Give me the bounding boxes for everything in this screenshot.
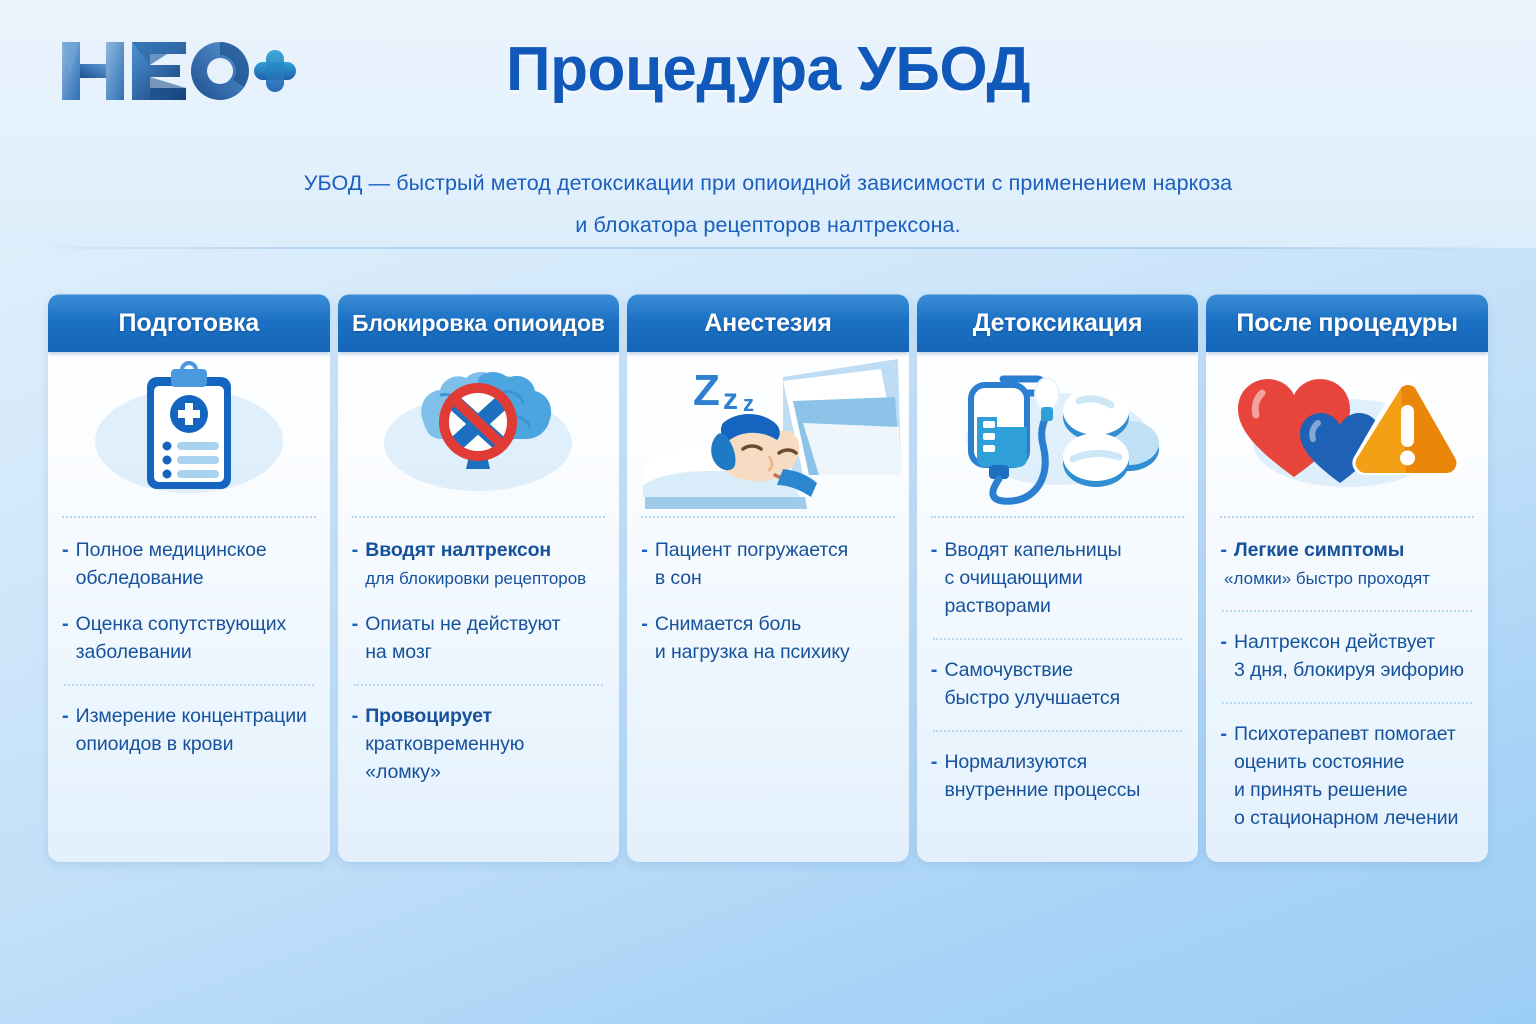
bullet-dash-icon: -: [931, 748, 938, 776]
bullet-line: заболевании: [76, 638, 286, 666]
stages-row: Подготовка -Полное медицинскоеобследован…: [48, 294, 1488, 862]
iv-drip-pills-icon: [917, 352, 1199, 516]
bullet-item: -Легкие симптомы«ломки» быстро проходят: [1220, 536, 1474, 592]
bullet-line: и нагрузка на психику: [655, 638, 850, 666]
bullet-item: -Провоцируеткратковременную«ломку»: [352, 702, 606, 786]
svg-text:z: z: [723, 383, 738, 416]
bullet-line: Оценка сопутствующих: [76, 610, 286, 638]
bullet-text: Измерение концентрацииопиоидов в крови: [76, 702, 307, 758]
stage-card-after-procedure: После процедуры -Легкие симптомы«ломки» …: [1206, 294, 1488, 862]
bullet-divider: [354, 684, 604, 686]
bullet-line: опиоидов в крови: [76, 730, 307, 758]
svg-text:Z: Z: [693, 366, 720, 415]
bullet-line: и принять решение: [1234, 776, 1458, 804]
subtitle-line-2: и блокатора рецепторов налтрексона.: [268, 204, 1268, 246]
bullet-item: -Оценка сопутствующихзаболевании: [62, 610, 316, 666]
clipboard-medical-icon: [48, 352, 330, 516]
bullet-text: Вводят налтрексондля блокировки рецептор…: [365, 536, 586, 592]
sleeping-patient-icon: Z z z: [627, 352, 909, 516]
stage-title-opioid-blocking: Блокировка опиоидов: [352, 310, 605, 337]
stage-bullets-opioid-blocking: -Вводят налтрексондля блокировки рецепто…: [338, 518, 620, 862]
bullet-line: Опиаты не действуют: [365, 610, 560, 638]
stage-header-preparation: Подготовка: [48, 294, 330, 352]
bullet-divider: [933, 730, 1183, 732]
bullet-dash-icon: -: [1220, 536, 1227, 564]
bullet-dash-icon: -: [931, 656, 938, 684]
bullet-line: Снимается боль: [655, 610, 850, 638]
bullet-dash-icon: -: [641, 536, 648, 564]
bullet-item: -Снимается больи нагрузка на психику: [641, 610, 895, 666]
bullet-dash-icon: -: [62, 702, 69, 730]
stage-title-anesthesia: Анестезия: [704, 309, 831, 338]
stage-bullets-anesthesia: -Пациент погружаетсяв сон-Снимается боль…: [627, 518, 909, 862]
bullet-line: Налтрексон действует: [1234, 628, 1464, 656]
bullet-line: Нормализуются: [944, 748, 1140, 776]
stage-header-after-procedure: После процедуры: [1206, 294, 1488, 352]
bullet-line: Провоцирует: [365, 702, 524, 730]
bullet-line: Вводят капельницы: [944, 536, 1121, 564]
stage-bullets-after-procedure: -Легкие симптомы«ломки» быстро проходят-…: [1206, 518, 1488, 862]
bullet-item: -Психотерапевт помогаетоценить состояние…: [1220, 720, 1474, 832]
stage-title-detoxification: Детоксикация: [973, 309, 1143, 338]
bullet-divider: [933, 638, 1183, 640]
bullet-divider: [64, 684, 314, 686]
bullet-text: Вводят капельницыс очищающимирастворами: [944, 536, 1121, 620]
stage-bullets-detoxification: -Вводят капельницыс очищающимирастворами…: [917, 518, 1199, 862]
bullet-line: Вводят налтрексон: [365, 536, 586, 564]
bullet-text: Самочувствиебыстро улучшается: [944, 656, 1120, 712]
bullet-line: Измерение концентрации: [76, 702, 307, 730]
stage-bullets-preparation: -Полное медицинскоеобследование-Оценка с…: [48, 518, 330, 862]
bullet-line: для блокировки рецепторов: [365, 566, 586, 592]
bullet-line: быстро улучшается: [944, 684, 1120, 712]
bullet-line: оценить состояние: [1234, 748, 1458, 776]
bullet-item: -Опиаты не действуютна мозг: [352, 610, 606, 666]
bullet-dash-icon: -: [62, 610, 69, 638]
bullet-line: с очищающими: [944, 564, 1121, 592]
bullet-text: Провоцируеткратковременную«ломку»: [365, 702, 524, 786]
bullet-item: -Вводят капельницыс очищающимирастворами: [931, 536, 1185, 620]
bullet-text: Налтрексон действует3 дня, блокируя эифо…: [1234, 628, 1464, 684]
bullet-text: Пациент погружаетсяв сон: [655, 536, 848, 592]
stage-title-preparation: Подготовка: [119, 309, 259, 338]
bullet-line: обследование: [76, 564, 267, 592]
bullet-item: -Нормализуютсявнутренние процессы: [931, 748, 1185, 804]
bullet-dash-icon: -: [641, 610, 648, 638]
bullet-divider: [1222, 610, 1472, 612]
stage-title-after-procedure: После процедуры: [1236, 309, 1458, 338]
bullet-line: кратковременную: [365, 730, 524, 758]
bullet-item: -Самочувствиебыстро улучшается: [931, 656, 1185, 712]
bullet-line: о стационарном лечении: [1234, 804, 1458, 832]
bullet-item: -Пациент погружаетсяв сон: [641, 536, 895, 592]
bullet-text: Психотерапевт помогаетоценить состояниеи…: [1234, 720, 1458, 832]
bullet-line: «ломку»: [365, 758, 524, 786]
page-subtitle: УБОД — быстрый метод детоксикации при оп…: [268, 162, 1268, 246]
stage-header-detoxification: Детоксикация: [917, 294, 1199, 352]
bullet-item: -Вводят налтрексондля блокировки рецепто…: [352, 536, 606, 592]
bullet-dash-icon: -: [1220, 628, 1227, 656]
stage-card-preparation: Подготовка -Полное медицинскоеобследован…: [48, 294, 330, 862]
brain-blocked-icon: [338, 352, 620, 516]
bullet-dash-icon: -: [931, 536, 938, 564]
bullet-line: Самочувствие: [944, 656, 1120, 684]
stage-card-detoxification: Детоксикация: [917, 294, 1199, 862]
bullet-item: -Измерение концентрацииопиоидов в крови: [62, 702, 316, 758]
bullet-item: -Налтрексон действует3 дня, блокируя эиф…: [1220, 628, 1474, 684]
bullet-dash-icon: -: [352, 702, 359, 730]
bullet-line: 3 дня, блокируя эифорию: [1234, 656, 1464, 684]
bullet-divider: [1222, 702, 1472, 704]
bullet-line: «ломки» быстро проходят: [1224, 566, 1430, 592]
bullet-line: на мозг: [365, 638, 560, 666]
bullet-text: Легкие симптомы«ломки» быстро проходят: [1234, 536, 1430, 592]
bullet-text: Опиаты не действуютна мозг: [365, 610, 560, 666]
bullet-dash-icon: -: [352, 536, 359, 564]
bullet-dash-icon: -: [352, 610, 359, 638]
bullet-dash-icon: -: [62, 536, 69, 564]
stage-card-anesthesia: Анестезия Z z z: [627, 294, 909, 862]
svg-text:z: z: [743, 391, 754, 416]
bullet-item: -Полное медицинскоеобследование: [62, 536, 316, 592]
stage-header-anesthesia: Анестезия: [627, 294, 909, 352]
bullet-line: Пациент погружается: [655, 536, 848, 564]
bullet-text: Оценка сопутствующихзаболевании: [76, 610, 286, 666]
header-divider: [0, 247, 1536, 249]
bullet-dash-icon: -: [1220, 720, 1227, 748]
bullet-line: Полное медицинское: [76, 536, 267, 564]
stage-header-opioid-blocking: Блокировка опиоидов: [338, 294, 620, 352]
page-title: Процедура УБОД: [0, 34, 1536, 105]
stage-card-opioid-blocking: Блокировка опиоидов -Вводят налтрексондл…: [338, 294, 620, 862]
bullet-line: Легкие симптомы: [1234, 536, 1430, 564]
bullet-line: растворами: [944, 592, 1121, 620]
bullet-line: внутренние процессы: [944, 776, 1140, 804]
bullet-line: Психотерапевт помогает: [1234, 720, 1458, 748]
subtitle-line-1: УБОД — быстрый метод детоксикации при оп…: [268, 162, 1268, 204]
bullet-text: Снимается больи нагрузка на психику: [655, 610, 850, 666]
bullet-line: в сон: [655, 564, 848, 592]
hearts-warning-icon: [1206, 352, 1488, 516]
bullet-text: Нормализуютсявнутренние процессы: [944, 748, 1140, 804]
bullet-text: Полное медицинскоеобследование: [76, 536, 267, 592]
